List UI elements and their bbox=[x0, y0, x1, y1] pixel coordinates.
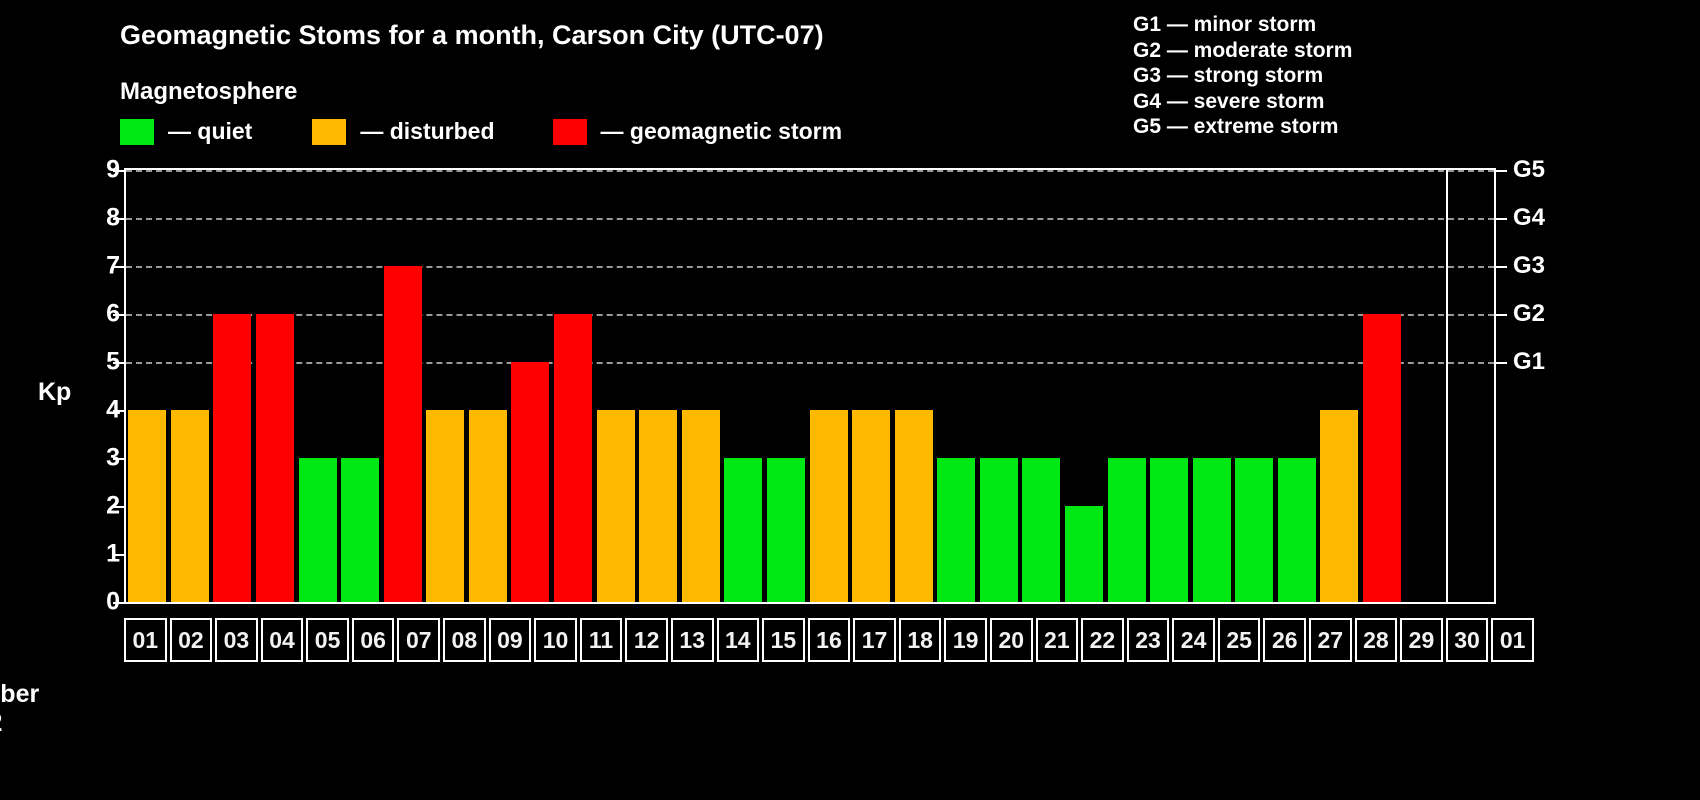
legend-swatch-storm bbox=[553, 119, 587, 145]
bar-day-06[interactable] bbox=[341, 458, 379, 602]
bar-slot-day-16[interactable] bbox=[765, 170, 808, 602]
bar-day-30[interactable] bbox=[1363, 314, 1401, 602]
bar-day-13[interactable] bbox=[639, 410, 677, 602]
bar-slot-day-07[interactable] bbox=[381, 170, 424, 602]
y-tick-mark-9 bbox=[113, 170, 124, 172]
bar-slot-day-14[interactable] bbox=[680, 170, 723, 602]
x-axis-title-text: September 2002 bbox=[0, 680, 39, 738]
bar-day-15[interactable] bbox=[724, 458, 762, 602]
bar-day-26[interactable] bbox=[1193, 458, 1231, 602]
g-tick-mark-G4 bbox=[1496, 218, 1507, 220]
bar-slot-day-04[interactable] bbox=[254, 170, 297, 602]
day-label-30[interactable]: 01 bbox=[1491, 618, 1534, 662]
day-label-15[interactable]: 16 bbox=[808, 618, 851, 662]
bar-day-08[interactable] bbox=[426, 410, 464, 602]
day-label-18[interactable]: 19 bbox=[944, 618, 987, 662]
bar-slot-day-25[interactable] bbox=[1148, 170, 1191, 602]
day-label-1[interactable]: 02 bbox=[170, 618, 213, 662]
day-label-21[interactable]: 22 bbox=[1081, 618, 1124, 662]
day-label-22[interactable]: 23 bbox=[1127, 618, 1170, 662]
bar-slot-day-22[interactable] bbox=[1020, 170, 1063, 602]
g-tick-mark-G2 bbox=[1496, 314, 1507, 316]
y-tick-mark-1 bbox=[113, 554, 124, 556]
y-tick-mark-6 bbox=[113, 314, 124, 316]
day-label-28[interactable]: 29 bbox=[1400, 618, 1443, 662]
legend-swatch-disturbed bbox=[312, 119, 346, 145]
day-label-2[interactable]: 03 bbox=[215, 618, 258, 662]
bar-day-03[interactable] bbox=[213, 314, 251, 602]
bar-slot-day-17[interactable] bbox=[807, 170, 850, 602]
bar-slot-day-18[interactable] bbox=[850, 170, 893, 602]
bar-slot-day-20[interactable] bbox=[935, 170, 978, 602]
bar-slot-day-01[interactable] bbox=[126, 170, 169, 602]
bar-day-10[interactable] bbox=[511, 362, 549, 602]
bar-slot-day-02[interactable] bbox=[169, 170, 212, 602]
bar-day-01[interactable] bbox=[128, 410, 166, 602]
day-label-29[interactable]: 30 bbox=[1446, 618, 1489, 662]
g-axis-label-G1: G1 bbox=[1513, 348, 1545, 376]
y-tick-mark-4 bbox=[113, 410, 124, 412]
legend-label-quiet: — quiet bbox=[168, 118, 252, 145]
bar-day-02[interactable] bbox=[171, 410, 209, 602]
legend-heading: Magnetosphere bbox=[120, 78, 842, 106]
bar-slot-day-28[interactable] bbox=[1276, 170, 1319, 602]
day-label-24[interactable]: 25 bbox=[1218, 618, 1261, 662]
bar-day-04[interactable] bbox=[256, 314, 294, 602]
g-tick-mark-G1 bbox=[1496, 362, 1507, 364]
legend-row: — quiet — disturbed — geomagnetic storm bbox=[120, 118, 842, 145]
last-day-separator bbox=[1446, 170, 1448, 602]
bar-slot-day-12[interactable] bbox=[594, 170, 637, 602]
y-axis-labels: 0123456789 bbox=[80, 168, 120, 604]
bar-day-27[interactable] bbox=[1235, 458, 1273, 602]
y-tick-mark-0 bbox=[113, 602, 124, 604]
bar-slot-day-01[interactable] bbox=[1403, 170, 1446, 602]
bar-slot-day-03[interactable] bbox=[211, 170, 254, 602]
y-tick-mark-5 bbox=[113, 362, 124, 364]
bar-slot-day-24[interactable] bbox=[1105, 170, 1148, 602]
legend-swatch-quiet bbox=[120, 119, 154, 145]
legend-label-storm: — geomagnetic storm bbox=[601, 118, 843, 145]
y-tick-mark-8 bbox=[113, 218, 124, 220]
x-axis-day-labels: 0102030405060708091011121314151617181920… bbox=[124, 618, 1537, 662]
legend-label-disturbed: — disturbed bbox=[360, 118, 494, 145]
g-axis-label-G3: G3 bbox=[1513, 252, 1545, 280]
day-label-7[interactable]: 08 bbox=[443, 618, 486, 662]
bars-area bbox=[126, 170, 1446, 602]
magnetosphere-legend: Magnetosphere — quiet — disturbed — geom… bbox=[120, 78, 842, 145]
day-label-9[interactable]: 10 bbox=[534, 618, 577, 662]
day-label-14[interactable]: 15 bbox=[762, 618, 805, 662]
bar-day-17[interactable] bbox=[810, 410, 848, 602]
g-scale-row-g5: G5 — extreme storm bbox=[1133, 114, 1352, 140]
bar-day-18[interactable] bbox=[852, 410, 890, 602]
bar-slot-day-29[interactable] bbox=[1318, 170, 1361, 602]
bar-slot-day-11[interactable] bbox=[552, 170, 595, 602]
g-axis-label-G2: G2 bbox=[1513, 300, 1545, 328]
bar-day-16[interactable] bbox=[767, 458, 805, 602]
page-title: Geomagnetic Stoms for a month, Carson Ci… bbox=[120, 20, 824, 51]
day-label-11[interactable]: 12 bbox=[625, 618, 668, 662]
bar-slot-day-21[interactable] bbox=[978, 170, 1021, 602]
bar-slot-day-09[interactable] bbox=[467, 170, 510, 602]
g-scale-row-g4: G4 — severe storm bbox=[1133, 89, 1352, 115]
day-label-6[interactable]: 07 bbox=[397, 618, 440, 662]
bar-slot-day-13[interactable] bbox=[637, 170, 680, 602]
bar-slot-day-30[interactable] bbox=[1361, 170, 1404, 602]
g-scale-row-g2: G2 — moderate storm bbox=[1133, 38, 1352, 64]
day-label-25[interactable]: 26 bbox=[1263, 618, 1306, 662]
bar-slot-day-26[interactable] bbox=[1190, 170, 1233, 602]
bar-slot-day-23[interactable] bbox=[1063, 170, 1106, 602]
day-label-5[interactable]: 06 bbox=[352, 618, 395, 662]
bar-slot-day-06[interactable] bbox=[339, 170, 382, 602]
day-label-20[interactable]: 21 bbox=[1036, 618, 1079, 662]
legend-item-storm: — geomagnetic storm bbox=[553, 118, 843, 145]
day-label-3[interactable]: 04 bbox=[261, 618, 304, 662]
day-label-13[interactable]: 14 bbox=[717, 618, 760, 662]
bar-day-21[interactable] bbox=[980, 458, 1018, 602]
g-axis-label-G5: G5 bbox=[1513, 156, 1545, 184]
bar-slot-day-10[interactable] bbox=[509, 170, 552, 602]
bar-day-07[interactable] bbox=[384, 266, 422, 602]
day-label-26[interactable]: 27 bbox=[1309, 618, 1352, 662]
bar-slot-day-15[interactable] bbox=[722, 170, 765, 602]
g-tick-mark-G5 bbox=[1496, 170, 1507, 172]
bar-slot-day-19[interactable] bbox=[892, 170, 935, 602]
bar-day-24[interactable] bbox=[1108, 458, 1146, 602]
day-label-17[interactable]: 18 bbox=[899, 618, 942, 662]
y-tick-mark-7 bbox=[113, 266, 124, 268]
g-scale-row-g1: G1 — minor storm bbox=[1133, 12, 1352, 38]
bar-day-25[interactable] bbox=[1150, 458, 1188, 602]
legend-item-disturbed: — disturbed bbox=[312, 118, 494, 145]
g-scale-legend: G1 — minor storm G2 — moderate storm G3 … bbox=[1133, 12, 1352, 140]
plot-area bbox=[124, 168, 1496, 604]
g-axis-label-G4: G4 bbox=[1513, 204, 1545, 232]
g-tick-mark-G3 bbox=[1496, 266, 1507, 268]
bar-day-05[interactable] bbox=[299, 458, 337, 602]
legend-item-quiet: — quiet bbox=[120, 118, 252, 145]
bar-day-23[interactable] bbox=[1065, 506, 1103, 602]
bar-slot-day-27[interactable] bbox=[1233, 170, 1276, 602]
y-tick-mark-3 bbox=[113, 458, 124, 460]
bar-day-28[interactable] bbox=[1278, 458, 1316, 602]
bar-day-19[interactable] bbox=[895, 410, 933, 602]
bar-slot-day-05[interactable] bbox=[296, 170, 339, 602]
day-label-16[interactable]: 17 bbox=[853, 618, 896, 662]
day-label-12[interactable]: 13 bbox=[671, 618, 714, 662]
bar-day-14[interactable] bbox=[682, 410, 720, 602]
bar-day-12[interactable] bbox=[597, 410, 635, 602]
bar-day-11[interactable] bbox=[554, 314, 592, 602]
bar-day-29[interactable] bbox=[1320, 410, 1358, 602]
day-label-8[interactable]: 09 bbox=[489, 618, 532, 662]
day-label-27[interactable]: 28 bbox=[1355, 618, 1398, 662]
bar-slot-day-08[interactable] bbox=[424, 170, 467, 602]
day-label-19[interactable]: 20 bbox=[990, 618, 1033, 662]
bar-day-20[interactable] bbox=[937, 458, 975, 602]
day-label-23[interactable]: 24 bbox=[1172, 618, 1215, 662]
bar-day-22[interactable] bbox=[1022, 458, 1060, 602]
day-label-4[interactable]: 05 bbox=[306, 618, 349, 662]
day-label-0[interactable]: 01 bbox=[124, 618, 167, 662]
y-tick-mark-2 bbox=[113, 506, 124, 508]
bar-day-09[interactable] bbox=[469, 410, 507, 602]
day-label-10[interactable]: 11 bbox=[580, 618, 623, 662]
g-scale-row-g3: G3 — strong storm bbox=[1133, 63, 1352, 89]
y-axis-title: Kp bbox=[38, 378, 71, 407]
